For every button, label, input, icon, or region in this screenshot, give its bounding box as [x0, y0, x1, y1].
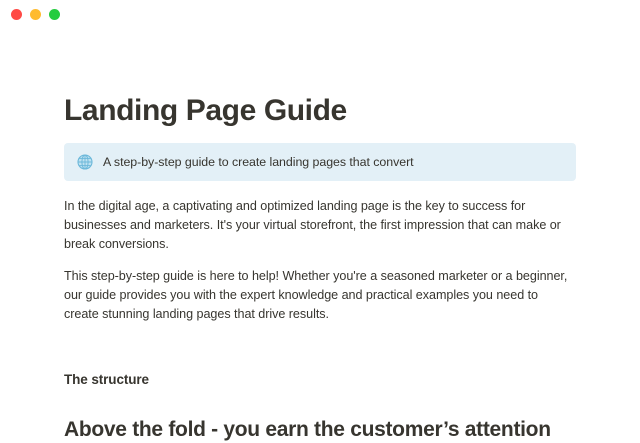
maximize-button[interactable]	[49, 9, 60, 20]
page-title[interactable]: Landing Page Guide	[64, 28, 576, 128]
subsection-heading-above-the-fold[interactable]: Above the fold - you earn the customer’s…	[64, 417, 576, 443]
subsection-spacer	[64, 389, 576, 417]
callout-text: A step-by-step guide to create landing p…	[103, 154, 414, 170]
window-controls	[11, 9, 60, 20]
paragraph-intro[interactable]: In the digital age, a captivating and op…	[64, 181, 576, 254]
paragraph-guide[interactable]: This step-by-step guide is here to help!…	[64, 254, 576, 324]
window-titlebar	[0, 0, 640, 28]
document-canvas: Landing Page Guide A step-by-step guide …	[0, 28, 640, 443]
section-spacer	[64, 324, 576, 371]
globe-icon	[77, 154, 93, 170]
section-heading-structure[interactable]: The structure	[64, 371, 576, 389]
callout-block[interactable]: A step-by-step guide to create landing p…	[64, 143, 576, 181]
app-window: Landing Page Guide A step-by-step guide …	[0, 0, 640, 400]
close-button[interactable]	[11, 9, 22, 20]
document-content: Landing Page Guide A step-by-step guide …	[64, 28, 576, 443]
minimize-button[interactable]	[30, 9, 41, 20]
